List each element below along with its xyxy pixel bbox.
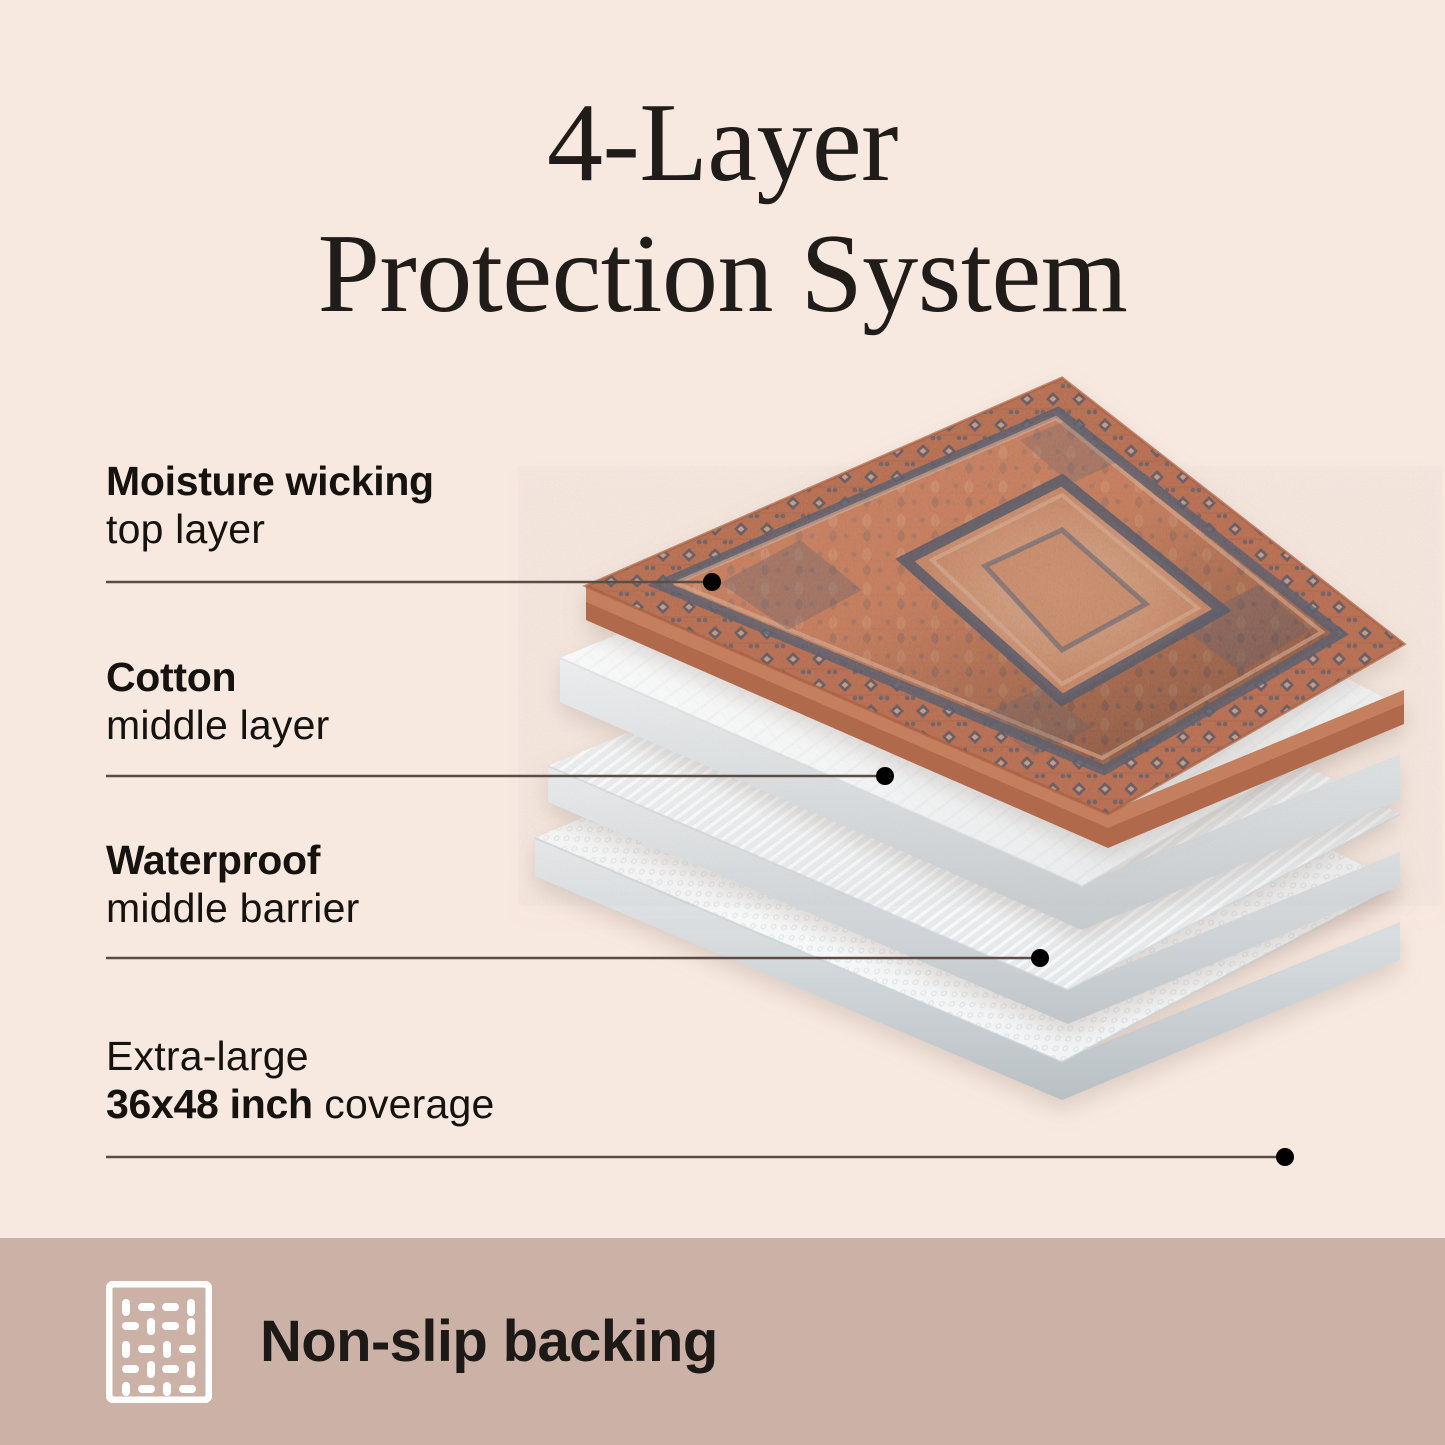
layer-shape-waterproof (548, 592, 1400, 1024)
leader-dot-cotton (876, 767, 894, 785)
layer-label-moisture-wicking: Moisture wicking top layer (106, 459, 434, 553)
coverage-word: coverage (313, 1081, 495, 1127)
non-slip-label: Non-slip backing (260, 1308, 718, 1375)
layer-shape-cotton (560, 486, 1400, 930)
layer-shape-extra-large (535, 662, 1400, 1100)
non-slip-grid-icon (106, 1281, 212, 1403)
coverage-dimension: 36x48 inch (106, 1081, 313, 1127)
layer-shape-moisture-wicking (520, 350, 1445, 870)
leader-dot-moisture-wicking (703, 573, 721, 591)
coverage-subtext: 36x48 inch coverage (106, 1080, 495, 1128)
non-slip-banner: Non-slip backing (0, 1238, 1445, 1445)
layer-subtext: top layer (106, 505, 434, 553)
layer-heading: Moisture wicking (106, 459, 434, 505)
title-line-1: 4-Layer (547, 81, 898, 205)
layer-heading: Cotton (106, 655, 329, 701)
page-title: 4-Layer Protection System (0, 78, 1445, 340)
layer-subtext: middle barrier (106, 884, 359, 932)
leader-dot-waterproof (1031, 949, 1049, 967)
title-line-2: Protection System (0, 209, 1445, 340)
layer-label-extra-large: Extra-large 36x48 inch coverage (106, 1032, 495, 1129)
infographic-canvas: 4-Layer Protection System (0, 0, 1445, 1445)
layer-label-cotton: Cotton middle layer (106, 655, 329, 749)
coverage-heading: Extra-large (106, 1032, 495, 1080)
layer-label-waterproof: Waterproof middle barrier (106, 838, 359, 932)
layer-subtext: middle layer (106, 701, 329, 749)
layer-heading: Waterproof (106, 838, 359, 884)
leader-dot-extra-large (1276, 1148, 1294, 1166)
